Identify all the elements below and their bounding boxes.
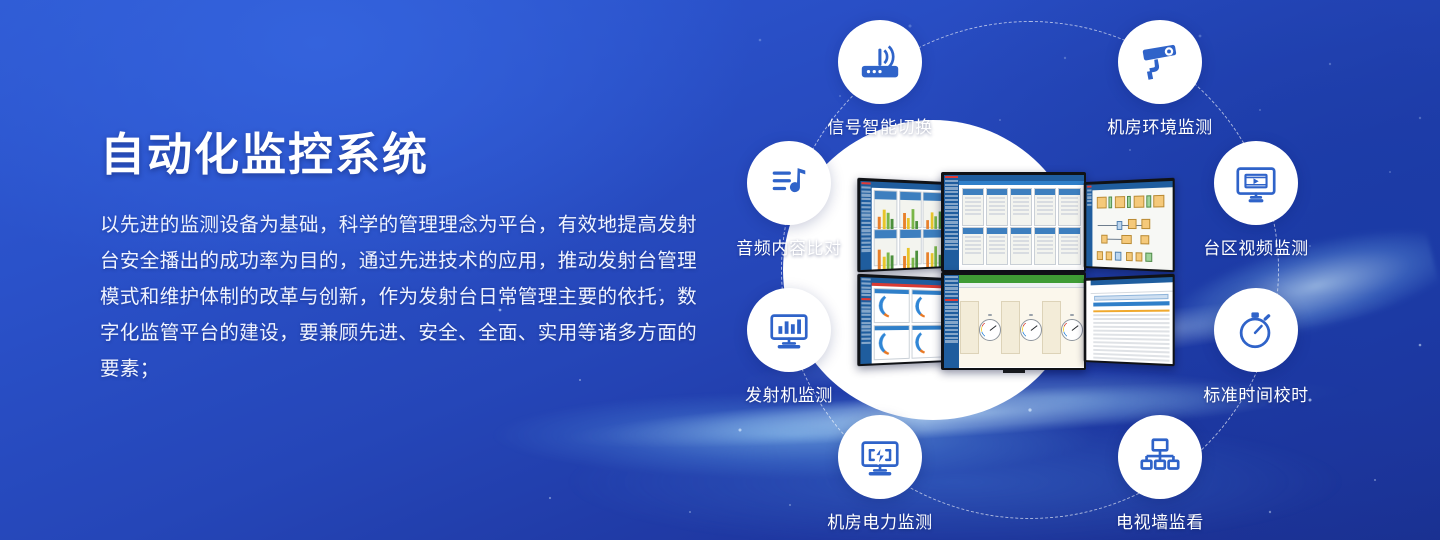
monitor-top-left[interactable] <box>857 178 948 273</box>
monitor-bottom-center[interactable] <box>941 272 1086 370</box>
feature-label: 机房环境监测 <box>1085 113 1235 138</box>
feature-icon-wrap <box>747 288 831 372</box>
monitor-bottom-left[interactable] <box>857 274 948 367</box>
feature-icon-wrap <box>1214 141 1298 225</box>
monitor-top-center[interactable] <box>941 172 1086 272</box>
hierarchy-screens-icon <box>1137 434 1183 480</box>
music-note-list-icon <box>766 160 812 206</box>
feature-icon-wrap <box>747 141 831 225</box>
screen-meters <box>944 275 1084 368</box>
feature-icon-wrap <box>1118 415 1202 499</box>
hero-copy: 自动化监控系统 以先进的监测设备为基础，科学的管理理念为平台，有效地提高发射台安… <box>100 132 700 387</box>
feature-icon-wrap <box>838 415 922 499</box>
hero-banner: 自动化监控系统 以先进的监测设备为基础，科学的管理理念为平台，有效地提高发射台安… <box>0 0 1440 540</box>
feature-icon-wrap <box>1118 20 1202 104</box>
monitor-stand <box>1003 370 1025 373</box>
feature-label: 发射机监测 <box>714 381 864 406</box>
screen-arc-gauges <box>860 276 946 363</box>
monitor-top-right[interactable] <box>1084 178 1175 273</box>
feature-transmitter[interactable]: 发射机监测 <box>714 288 864 406</box>
monitor-barchart-icon <box>766 307 812 353</box>
screen-sidebar <box>944 175 959 270</box>
feature-room-environment[interactable]: 机房环境监测 <box>1085 20 1235 138</box>
monitor-battery-bolt-icon <box>857 434 903 480</box>
cctv-camera-icon <box>1137 39 1183 85</box>
feature-label: 电视墙监看 <box>1085 508 1235 533</box>
feature-icon-wrap <box>838 20 922 104</box>
feature-tv-wall[interactable]: 电视墙监看 <box>1085 415 1235 533</box>
monitor-video-icon <box>1233 160 1279 206</box>
screen-data-panels <box>944 175 1084 270</box>
feature-label: 标准时间校时 <box>1181 381 1331 406</box>
feature-icon-wrap <box>1214 288 1298 372</box>
feature-area-video[interactable]: 台区视频监测 <box>1181 141 1331 259</box>
feature-time-sync[interactable]: 标准时间校时 <box>1181 288 1331 406</box>
stopwatch-icon <box>1233 307 1279 353</box>
feature-label: 信号智能切换 <box>805 113 955 138</box>
page-description: 以先进的监测设备为基础，科学的管理理念为平台，有效地提高发射台安全播出的成功率为… <box>100 207 700 387</box>
feature-room-power[interactable]: 机房电力监测 <box>805 415 955 533</box>
screen-table <box>1086 276 1172 363</box>
screen-bar-dashboard <box>860 180 946 269</box>
monitor-bottom-right[interactable] <box>1084 274 1175 367</box>
feature-label: 音频内容比对 <box>714 234 864 259</box>
feature-label: 机房电力监测 <box>805 508 955 533</box>
page-title: 自动化监控系统 <box>100 132 700 177</box>
feature-signal-switch[interactable]: 信号智能切换 <box>805 20 955 138</box>
screen-sidebar <box>944 275 959 368</box>
screen-flow-diagram <box>1086 180 1172 269</box>
feature-label: 台区视频监测 <box>1181 234 1331 259</box>
feature-audio-compare[interactable]: 音频内容比对 <box>714 141 864 259</box>
video-wall <box>855 172 1180 364</box>
router-wifi-icon <box>857 39 903 85</box>
